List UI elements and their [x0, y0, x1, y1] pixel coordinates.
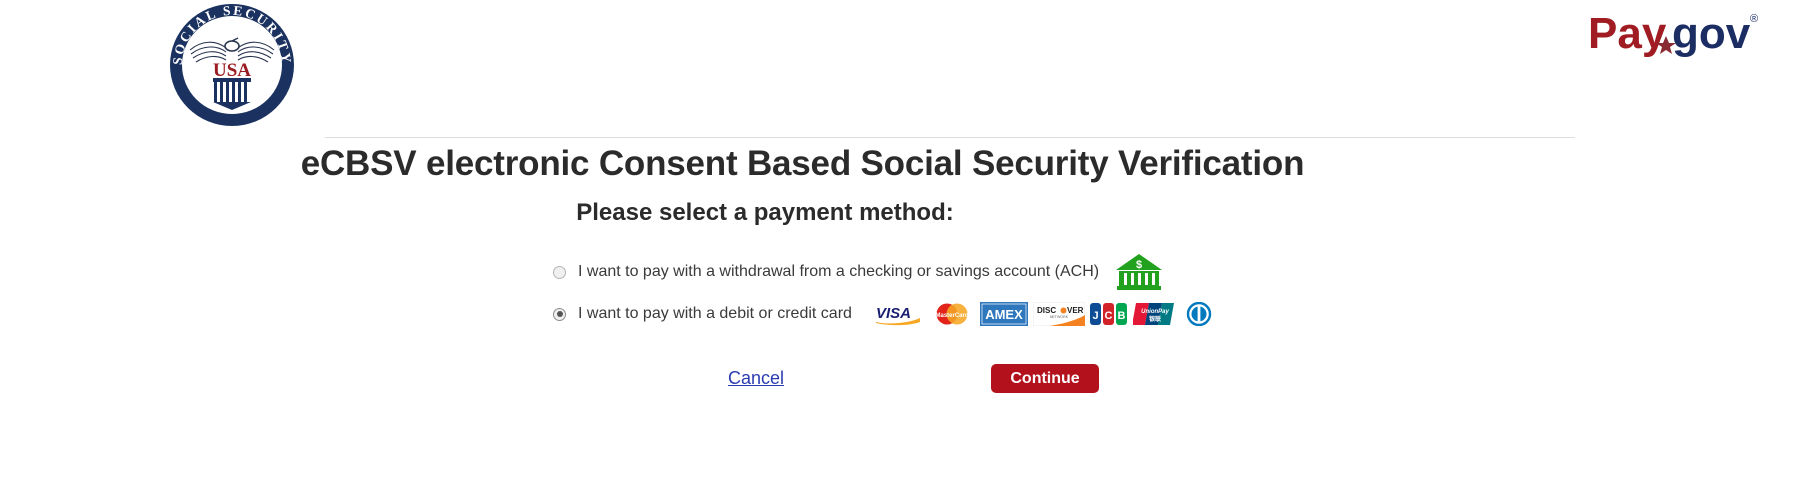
payment-method-options: I want to pay with a withdrawal from a c… — [0, 251, 1812, 335]
payment-option-ach-label: I want to pay with a withdrawal from a c… — [578, 263, 1099, 281]
form-actions: Cancel Continue — [0, 355, 1812, 401]
continue-button[interactable]: Continue — [991, 364, 1099, 393]
svg-text:UnionPay: UnionPay — [1141, 309, 1169, 315]
svg-text:DISC: DISC — [1037, 306, 1056, 315]
svg-text:$: $ — [1136, 259, 1142, 271]
svg-text:J: J — [1092, 310, 1098, 322]
unionpay-card-icon: UnionPay 银联 — [1133, 302, 1177, 326]
svg-text:®: ® — [1750, 13, 1758, 25]
diners-club-card-icon — [1182, 302, 1216, 326]
payment-option-ach[interactable]: I want to pay with a withdrawal from a c… — [553, 251, 1812, 293]
paygov-logo-icon: Pay gov ® — [1588, 6, 1760, 62]
visa-card-icon: VISA — [872, 302, 924, 326]
ssa-seal-icon: SOCIAL SECURITY ADMINISTRATION USA — [160, 2, 304, 128]
svg-text:MasterCard: MasterCard — [935, 313, 968, 319]
payment-option-card[interactable]: I want to pay with a debit or credit car… — [553, 293, 1812, 335]
amex-card-icon: AMEX — [980, 302, 1028, 326]
discover-card-icon: DISC VER NETWORK — [1033, 302, 1085, 326]
svg-text:C: C — [1104, 310, 1112, 322]
accepted-cards: VISA MasterCard AMEX — [872, 302, 1216, 326]
svg-text:AMEX: AMEX — [985, 307, 1023, 322]
svg-text:VISA: VISA — [876, 305, 911, 322]
jcb-card-icon: J C B — [1090, 302, 1128, 326]
payment-option-card-label: I want to pay with a debit or credit car… — [578, 305, 852, 323]
svg-text:B: B — [1117, 310, 1125, 322]
page-header: SOCIAL SECURITY ADMINISTRATION USA — [0, 0, 1812, 140]
svg-text:VER: VER — [1067, 306, 1084, 315]
main-content: eCBSV electronic Consent Based Social Se… — [0, 140, 1812, 401]
radio-ach[interactable] — [553, 266, 566, 279]
payment-method-subtitle: Please select a payment method: — [0, 184, 1530, 227]
svg-text:NETWORK: NETWORK — [1050, 315, 1069, 319]
mastercard-card-icon: MasterCard — [929, 302, 975, 326]
svg-text:USA: USA — [213, 60, 251, 81]
svg-text:gov: gov — [1672, 9, 1751, 58]
cancel-link[interactable]: Cancel — [728, 368, 784, 389]
page-title: eCBSV electronic Consent Based Social Se… — [0, 140, 1605, 184]
svg-text:银联: 银联 — [1149, 315, 1161, 323]
bank-ach-icon: $ — [1115, 253, 1163, 291]
radio-card[interactable] — [553, 308, 566, 321]
svg-text:Pay: Pay — [1588, 9, 1667, 58]
header-divider — [325, 137, 1575, 138]
